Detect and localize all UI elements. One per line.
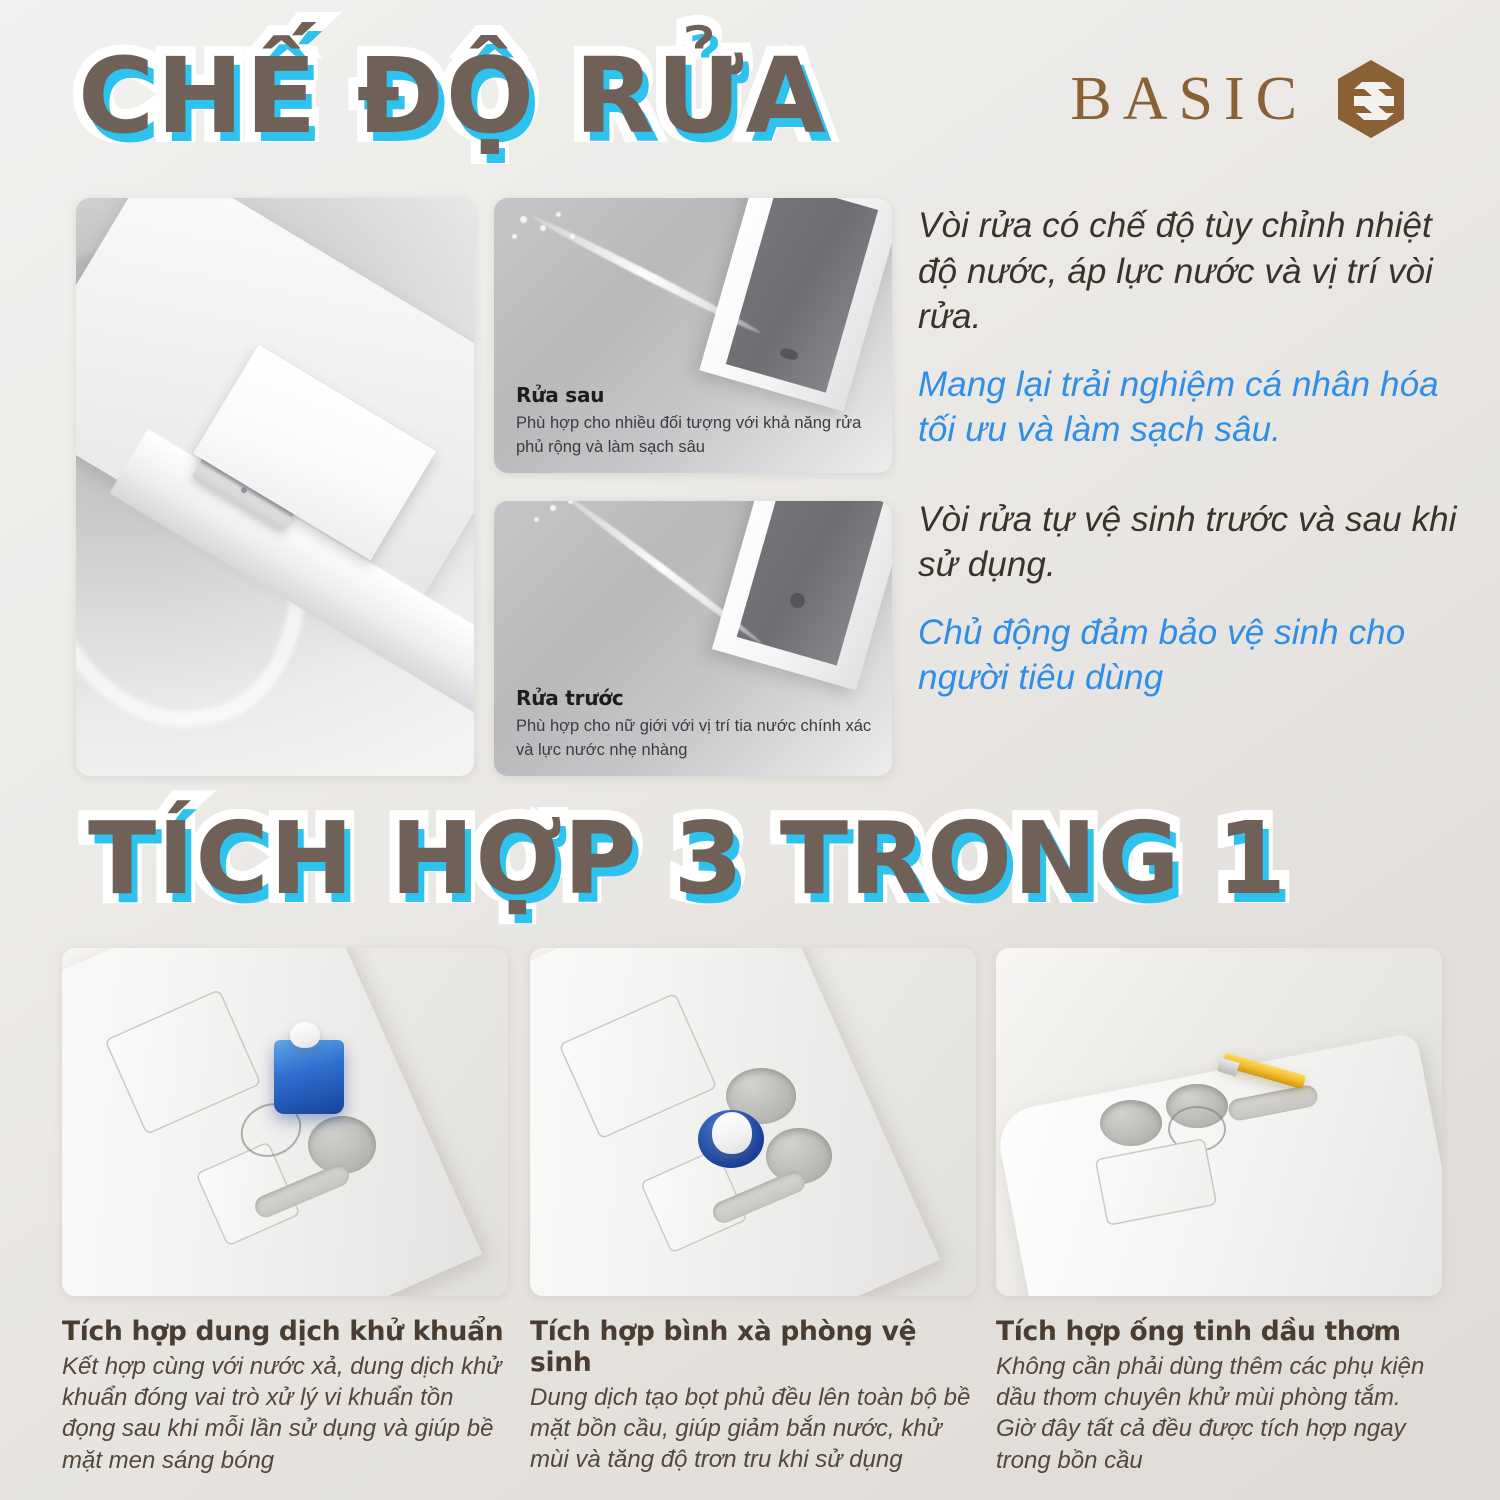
rear-wash-title: Rửa sau (516, 383, 874, 407)
brand-logo: BASIC (1070, 58, 1408, 140)
nozzle-port (790, 593, 805, 608)
brand-name: BASIC (1070, 64, 1308, 135)
feature-card-soap: Tích hợp bình xà phòng vệ sinh Dung dịch… (530, 948, 976, 1476)
disinfectant-title: Tích hợp dung dịch khử khuẩn (62, 1316, 508, 1347)
description-paragraph-1: Vòi rửa có chế độ tùy chỉnh nhiệt độ nướ… (918, 203, 1473, 340)
soap-container-cap (712, 1112, 752, 1154)
wash-description-text: Vòi rửa có chế độ tùy chỉnh nhiệt độ nướ… (918, 193, 1473, 701)
aroma-title: Tích hợp ống tinh dầu thơm (996, 1316, 1442, 1347)
front-wash-caption: Rửa trước Phù hợp cho nữ giới với vị trí… (516, 686, 874, 762)
disinfectant-cartridge (274, 1040, 344, 1114)
rear-wash-body: Phù hợp cho nhiều đối tượng với khả năng… (516, 412, 874, 459)
page-header: CHẾ ĐỘ RỬA BASIC (0, 0, 1500, 185)
hexagon-s-logo-icon (1334, 58, 1408, 140)
front-wash-card: Rửa trước Phù hợp cho nữ giới với vị trí… (494, 501, 892, 776)
soap-title: Tích hợp bình xà phòng vệ sinh (530, 1316, 976, 1378)
soap-body: Dung dịch tạo bọt phủ đều lên toàn bộ bề… (530, 1382, 976, 1476)
bidet-nozzle-photo (76, 198, 474, 776)
aroma-well-1 (1100, 1100, 1162, 1146)
section-title-wash-modes: CHẾ ĐỘ RỬA (78, 42, 828, 151)
section-title-three-in-one: TÍCH HỢP 3 TRONG 1 (88, 800, 1287, 917)
description-paragraph-3: Vòi rửa tự vệ sinh trước và sau khi sử d… (918, 497, 1473, 588)
feature-card-disinfectant: Tích hợp dung dịch khử khuẩn Kết hợp cùn… (62, 948, 508, 1476)
rear-wash-caption: Rửa sau Phù hợp cho nhiều đối tượng với … (516, 383, 874, 459)
front-wash-title: Rửa trước (516, 686, 874, 710)
three-in-one-section: Tích hợp dung dịch khử khuẩn Kết hợp cùn… (0, 948, 1500, 1500)
wash-modes-section: Rửa sau Phù hợp cho nhiều đối tượng với … (0, 193, 1500, 783)
rear-wash-card: Rửa sau Phù hợp cho nhiều đối tượng với … (494, 198, 892, 473)
cartridge-cap (290, 1022, 320, 1048)
disinfectant-body: Kết hợp cùng với nước xả, dung dịch khử … (62, 1351, 508, 1476)
description-paragraph-4: Chủ động đảm bảo vệ sinh cho người tiêu … (918, 610, 1473, 701)
aroma-oil-tube-photo (996, 948, 1442, 1296)
aroma-body: Không cần phải dùng thêm các phụ kiện dầ… (996, 1351, 1442, 1476)
disinfectant-cartridge-photo (62, 948, 508, 1296)
feature-card-aroma: Tích hợp ống tinh dầu thơm Không cần phả… (996, 948, 1442, 1476)
front-wash-body: Phù hợp cho nữ giới với vị trí tia nước … (516, 715, 874, 762)
soap-container-photo (530, 948, 976, 1296)
description-paragraph-2: Mang lại trải nghiệm cá nhân hóa tối ưu … (918, 362, 1473, 453)
